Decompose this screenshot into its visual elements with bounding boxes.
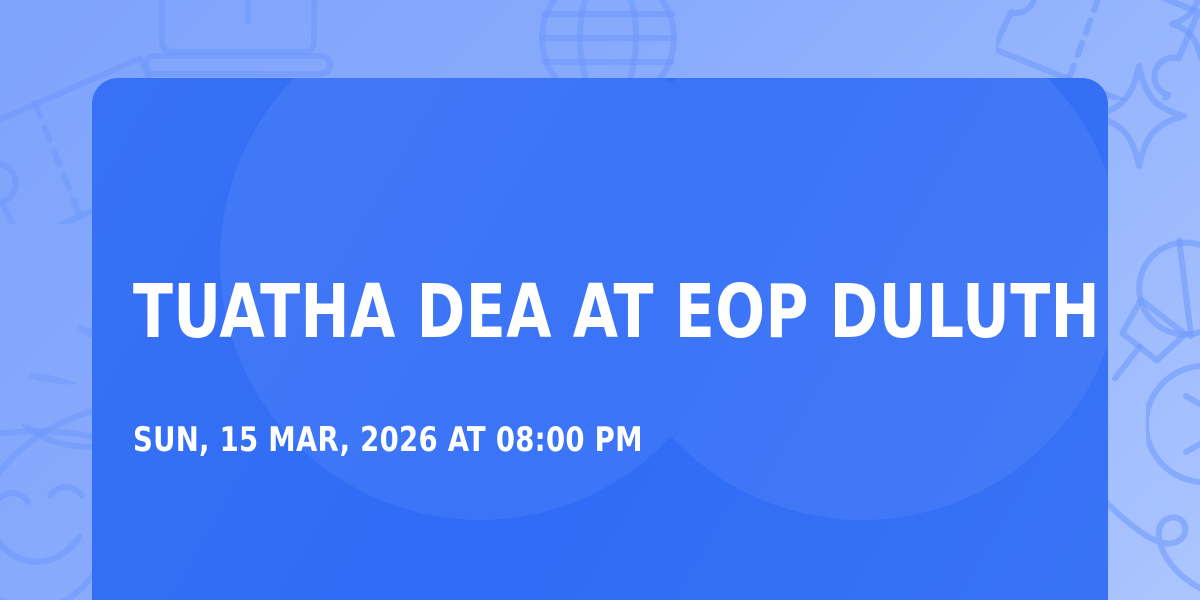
event-title: Tuatha Dea at EOP Duluth GA <box>133 274 956 352</box>
play-circle-icon <box>1146 362 1200 512</box>
event-date: Sun, 15 Mar, 2026 at 08:00 PM <box>133 422 975 459</box>
event-card: Tuatha Dea at EOP Duluth GA Sun, 15 Mar,… <box>92 78 1108 600</box>
ribbon-curve-icon <box>1100 470 1200 600</box>
event-card-content: Tuatha Dea at EOP Duluth GA Sun, 15 Mar,… <box>133 78 1068 600</box>
sparkle-icon <box>1166 0 1200 64</box>
event-banner: Tuatha Dea at EOP Duluth GA Sun, 15 Mar,… <box>0 0 1200 600</box>
